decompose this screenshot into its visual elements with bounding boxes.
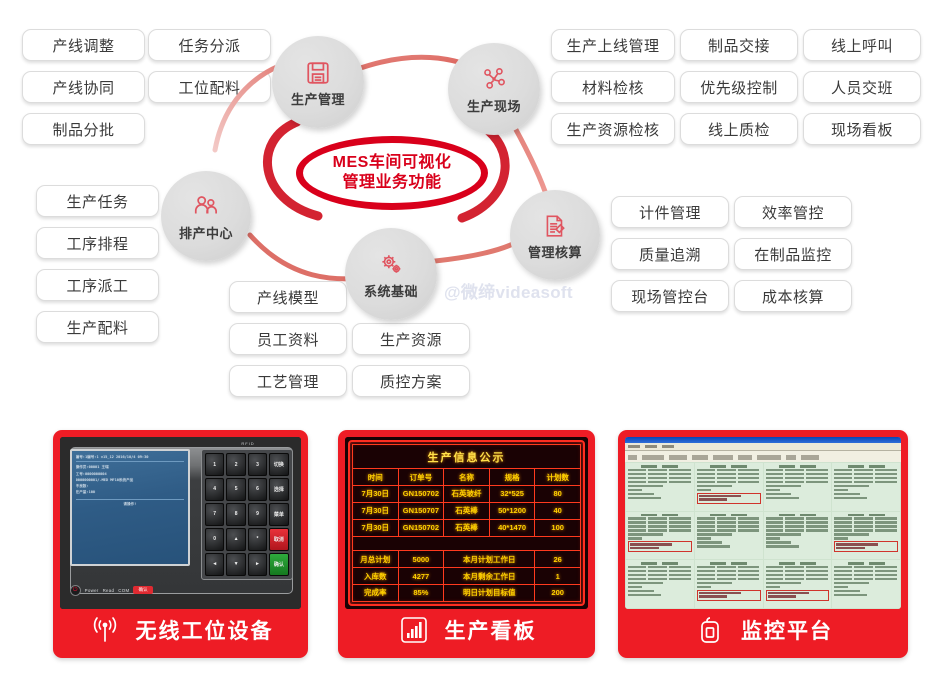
keypad-key[interactable]: 取消 [269, 528, 288, 551]
kanban-cell: 100 [535, 519, 581, 536]
kanban-photo: 生产信息公示时间订单号名称规格计划数7月30日GN150702石英玻纤32*52… [345, 437, 588, 609]
wireless-signal-icon [88, 614, 122, 646]
kanban-header-cell: 订单号 [398, 469, 444, 486]
keypad-key[interactable]: 4 [205, 478, 224, 501]
card-caption: 无线工位设备 [60, 609, 301, 651]
hub-scheduling-center[interactable]: 排产中心 [161, 171, 251, 261]
monitor-record-card[interactable] [695, 512, 763, 560]
kanban-cell: 32*525 [489, 486, 535, 503]
keypad-key[interactable]: 0 [205, 528, 224, 551]
center-title-badge: MES车间可视化 管理业务功能 [296, 136, 488, 210]
card-caption: 生产看板 [345, 609, 588, 651]
monitor-record-card[interactable] [764, 463, 832, 511]
card-caption-text: 无线工位设备 [136, 615, 274, 645]
monitor-record-card[interactable] [764, 512, 832, 560]
bar-chart-icon [397, 614, 431, 646]
hub-system-foundation[interactable]: 系统基础 [345, 228, 437, 320]
kanban-summary-row: 入库数 4277 本月剩余工作日 1 [353, 568, 581, 585]
confirm-button[interactable]: 确认 [133, 586, 152, 594]
kanban-summary-value2: 26 [535, 551, 581, 568]
kanban-cell: 40 [535, 502, 581, 519]
com-label: COM [118, 588, 129, 593]
hub-production-site[interactable]: 生产现场 [448, 43, 540, 135]
monitor-record-card[interactable] [695, 560, 763, 608]
keypad-key[interactable]: ▲ [226, 528, 245, 551]
app-menubar[interactable] [625, 443, 901, 451]
monitor-record-card[interactable] [832, 560, 900, 608]
kanban-row: 7月30日GN150702石英棒40*1470100 [353, 519, 581, 536]
kanban-cell: 80 [535, 486, 581, 503]
hub-label: 生产管理 [291, 89, 345, 108]
card-caption: 监控平台 [625, 609, 901, 651]
kanban-header-row: 时间订单号名称规格计划数 [353, 469, 581, 486]
keypad-key[interactable]: ▼ [226, 553, 245, 576]
infographic-root: 生产管理 生产现场 排产中心 [0, 0, 943, 682]
kanban-cell: 50*1200 [489, 502, 535, 519]
kanban-cell: GN150702 [398, 486, 444, 503]
hub-label: 生产现场 [467, 96, 521, 115]
kanban-summary-value: 4277 [398, 568, 444, 585]
keypad-key[interactable]: 6 [248, 478, 267, 501]
watermark: @微缔videasoft [444, 278, 573, 303]
hub-label: 管理核算 [528, 242, 582, 261]
keypad-key[interactable]: 8 [226, 503, 245, 526]
kanban-summary-value2: 1 [535, 568, 581, 585]
hub-label: 排产中心 [179, 223, 233, 242]
kanban-summary-value2: 200 [535, 584, 581, 601]
card-monitoring-platform[interactable]: 监控平台 [618, 430, 908, 658]
kanban-table: 生产信息公示时间订单号名称规格计划数7月30日GN150702石英玻纤32*52… [352, 444, 581, 602]
kanban-cell: 40*1470 [489, 519, 535, 536]
keypad-key[interactable]: 2 [226, 453, 245, 476]
keypad-key[interactable]: 选择 [269, 478, 288, 501]
document-edit-icon [542, 209, 568, 239]
hub-label: 系统基础 [364, 281, 418, 300]
monitor-record-card[interactable] [832, 512, 900, 560]
hub-production-management[interactable]: 生产管理 [272, 36, 364, 128]
power-icon[interactable]: ⏻ [70, 585, 81, 596]
monitor-record-card[interactable] [626, 560, 694, 608]
kanban-cell: GN150707 [398, 502, 444, 519]
monitor-record-card[interactable] [832, 463, 900, 511]
power-label: Power [85, 588, 99, 593]
kanban-cell: 7月30日 [353, 502, 399, 519]
monitoring-screenshot [625, 437, 901, 609]
kanban-header-cell: 计划数 [535, 469, 581, 486]
monitoring-grid [625, 462, 901, 609]
device-footer: ⏻ Power Read COM 确认 [70, 580, 195, 601]
keypad-key[interactable]: 菜单 [269, 503, 288, 526]
kanban-summary-value: 85% [398, 584, 444, 601]
keypad-key[interactable]: ◄ [205, 553, 224, 576]
floppy-disk-icon [305, 56, 331, 86]
kanban-summary-value: 5000 [398, 551, 444, 568]
network-nodes-icon [480, 63, 508, 93]
kanban-cell: GN150702 [398, 519, 444, 536]
kanban-cell: 石英玻纤 [444, 486, 490, 503]
device-lcd: 编号:1编号:1 v15_12 2016/10/4 09:30 操作员:0000… [70, 449, 191, 566]
kanban-header-cell: 名称 [444, 469, 490, 486]
keypad-key[interactable]: 7 [205, 503, 224, 526]
kanban-summary-row: 完成率 85% 明日计划目标值 200 [353, 584, 581, 601]
kanban-cell: 7月30日 [353, 486, 399, 503]
kanban-summary-label2: 本月剩余工作日 [444, 568, 535, 585]
keypad-key[interactable]: ► [248, 553, 267, 576]
card-wireless-station-device[interactable]: RFID 编号:1编号:1 v15_12 2016/10/4 09:30 操作员… [53, 430, 308, 658]
keypad-key[interactable]: 1 [205, 453, 224, 476]
lcd-line-top: 编号:1编号:1 v15_12 2016/10/4 09:30 [76, 454, 185, 462]
keypad-key[interactable]: 5 [226, 478, 245, 501]
lcd-line-bottom: 请操作! [76, 499, 185, 507]
kanban-title: 生产信息公示 [353, 445, 581, 469]
monitor-record-card[interactable] [764, 560, 832, 608]
device-photo: RFID 编号:1编号:1 v15_12 2016/10/4 09:30 操作员… [60, 437, 301, 609]
card-production-kanban[interactable]: 生产信息公示时间订单号名称规格计划数7月30日GN150702石英玻纤32*52… [338, 430, 595, 658]
users-icon [192, 190, 220, 220]
kanban-row: 7月30日GN150702石英玻纤32*52580 [353, 486, 581, 503]
kanban-header-cell: 时间 [353, 469, 399, 486]
keypad-key[interactable]: 9 [248, 503, 267, 526]
monitor-record-card[interactable] [626, 512, 694, 560]
monitor-record-card[interactable] [626, 463, 694, 511]
center-title-line1: MES车间可视化 [333, 153, 452, 173]
read-label: Read [103, 588, 115, 593]
keypad-key[interactable]: * [248, 528, 267, 551]
keypad-key[interactable]: 切换 [269, 453, 288, 476]
monitor-tag-icon [693, 614, 727, 646]
lcd-line: 在产量:100 [76, 489, 185, 495]
keypad-key[interactable]: 确认 [269, 553, 288, 576]
card-caption-text: 生产看板 [445, 615, 537, 645]
device-keypad[interactable]: 123切换456选择789菜单0▲*取消◄▼►确认 [201, 449, 293, 580]
kanban-summary-row: 月总计划 5000 本月计划工作日 26 [353, 551, 581, 568]
kanban-cell: 7月30日 [353, 519, 399, 536]
kanban-summary-label2: 明日计划目标值 [444, 584, 535, 601]
rfid-label: RFID [205, 441, 292, 448]
kanban-cell: 石英棒 [444, 519, 490, 536]
monitor-record-card[interactable] [695, 463, 763, 511]
kanban-spacer-row [353, 536, 581, 550]
kanban-summary-label2: 本月计划工作日 [444, 551, 535, 568]
center-title-line2: 管理业务功能 [342, 173, 441, 193]
card-caption-text: 监控平台 [741, 615, 833, 645]
kanban-summary-label: 完成率 [353, 584, 399, 601]
kanban-cell: 石英棒 [444, 502, 490, 519]
kanban-row: 7月30日GN150707石英棒50*120040 [353, 502, 581, 519]
keypad-key[interactable]: 3 [248, 453, 267, 476]
gears-icon [377, 248, 405, 278]
hub-management-accounting[interactable]: 管理核算 [510, 190, 600, 280]
kanban-header-cell: 规格 [489, 469, 535, 486]
kanban-summary-label: 月总计划 [353, 551, 399, 568]
kanban-summary-label: 入库数 [353, 568, 399, 585]
